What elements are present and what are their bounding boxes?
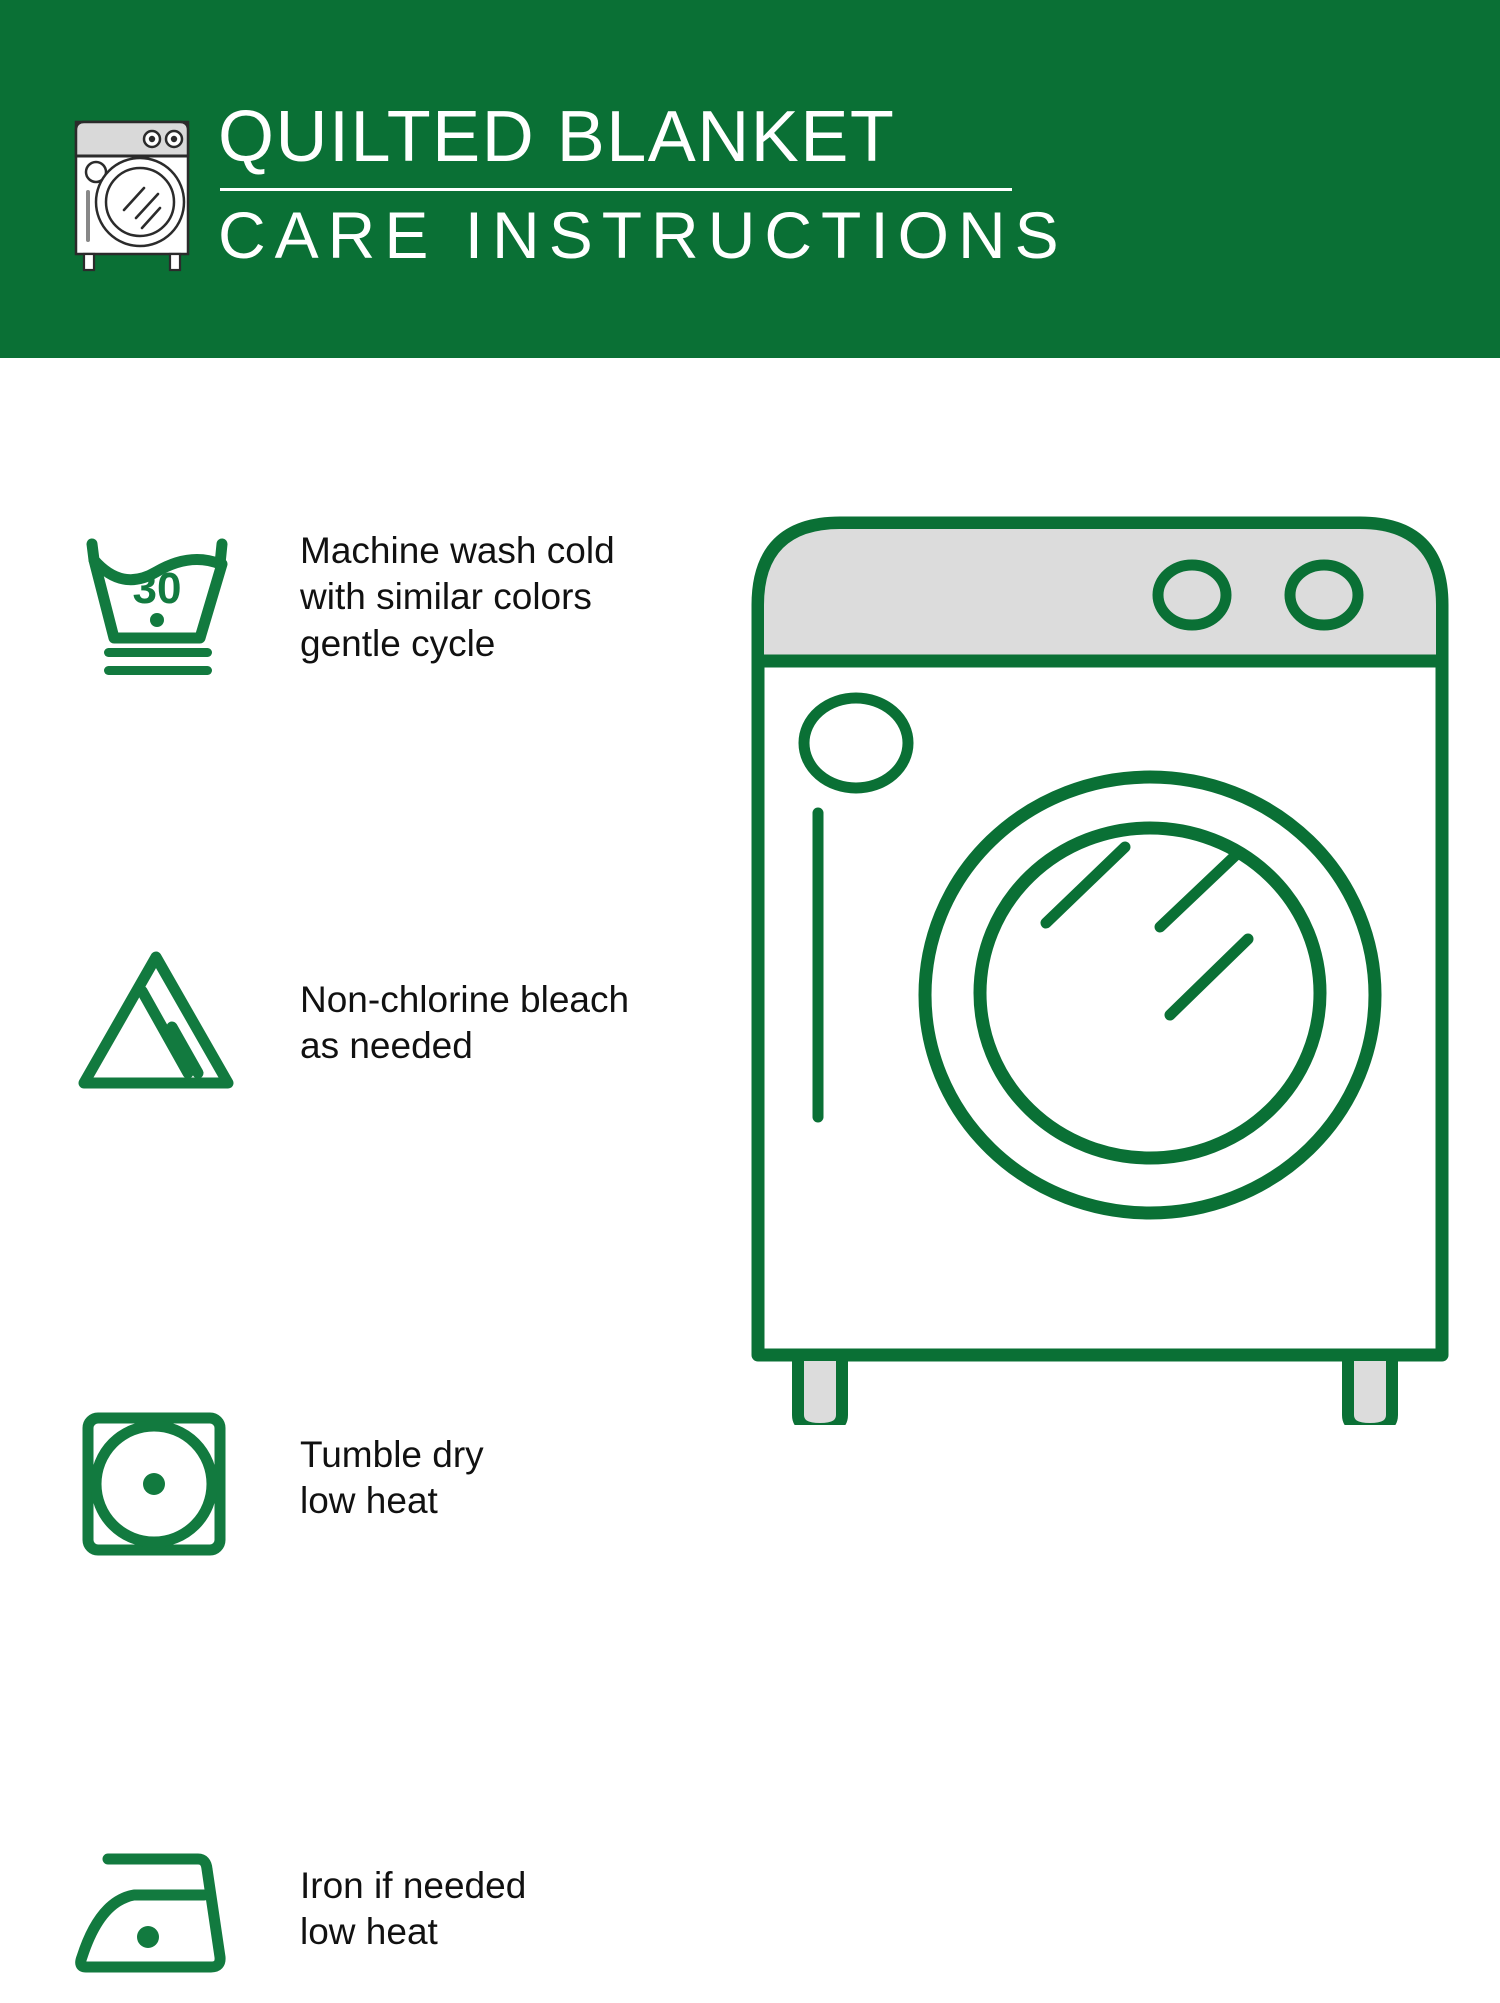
care-text-line: Tumble dry (300, 1432, 720, 1478)
tumble-dry-low-icon (70, 1400, 250, 1570)
header-band: QUILTED BLANKET CARE INSTRUCTIONS (0, 0, 1500, 358)
care-row-iron: Iron if needed low heat (0, 1145, 720, 1360)
iron-low-heat-icon (70, 1833, 250, 2003)
front-load-washing-machine-illustration (740, 495, 1460, 1425)
care-text-line: low heat (300, 1909, 720, 1955)
page-subtitle: CARE INSTRUCTIONS (218, 201, 1228, 270)
care-row-machine-wash: 30 Machine wash cold with similar colors… (0, 500, 720, 715)
svg-text:30: 30 (133, 564, 182, 613)
care-row-tumble-dry: Tumble dry low heat (0, 930, 720, 1145)
care-text-line: low heat (300, 1478, 720, 1524)
care-text-machine-wash: Machine wash cold with similar colors ge… (300, 528, 720, 667)
care-text-iron: Iron if needed low heat (300, 1863, 720, 1956)
header-title-group: QUILTED BLANKET CARE INSTRUCTIONS (218, 100, 1228, 270)
washing-machine-icon (62, 104, 202, 274)
care-text-line: gentle cycle (300, 621, 720, 667)
control-panel (764, 529, 1436, 661)
care-text-line: with similar colors (300, 574, 720, 620)
machine-wash-30-gentle-icon: 30 (70, 520, 250, 690)
care-text-line: Machine wash cold (300, 528, 720, 574)
care-instruction-list: 30 Machine wash cold with similar colors… (0, 500, 720, 1360)
leg-left (798, 1355, 842, 1425)
care-text-tumble-dry: Tumble dry low heat (300, 1432, 720, 1525)
care-text-line: Iron if needed (300, 1863, 720, 1909)
leg-right (1348, 1355, 1392, 1425)
page-title: QUILTED BLANKET (218, 100, 1228, 176)
care-row-bleach: Non-chlorine bleach as needed (0, 715, 720, 930)
title-divider (220, 188, 1012, 191)
